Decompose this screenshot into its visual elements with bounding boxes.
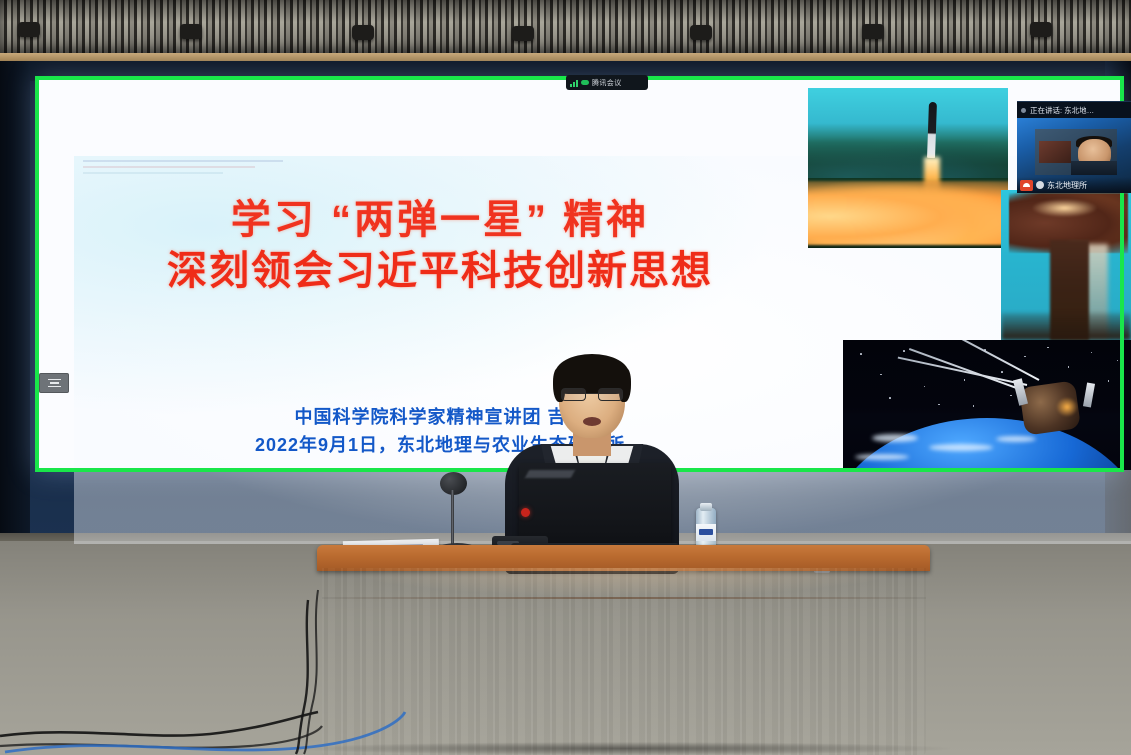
cloud-band	[872, 434, 918, 442]
slide-subtitle-line1: 中国科学院科学家精神宣讲团 吉林	[60, 404, 820, 432]
satellite-antenna	[898, 357, 1028, 386]
earth-limb	[843, 418, 1131, 470]
ceiling-spotlight	[862, 24, 884, 39]
meeting-app-label: 腾讯会议	[592, 78, 622, 88]
slide-subtitle-block: 中国科学院科学家精神宣讲团 吉林 2022年9月1日，东北地理与农业生态研究所	[60, 404, 820, 460]
ceiling-spotlight	[690, 25, 712, 40]
slide-subtitle-line2: 2022年9月1日，东北地理与农业生态研究所	[60, 432, 820, 460]
speaking-banner-label: 正在讲话: 东北地…	[1030, 105, 1094, 116]
satellite-sunlight-glint	[1056, 397, 1078, 417]
mushroom-cap-highlight	[1032, 199, 1097, 217]
black-cable	[296, 600, 308, 754]
black-cable	[0, 712, 318, 736]
laptop-screen-reflection	[525, 470, 575, 478]
nuclear-mushroom-cloud-photo	[1001, 190, 1131, 340]
slide-title-block: 学习 “两弹一星” 精神 深刻领会习近平科技创新思想	[60, 198, 820, 294]
eyeglasses-icon	[561, 388, 623, 401]
cloud-band	[929, 444, 993, 451]
participant-name-label: 东北地理所	[1047, 180, 1087, 191]
slide-title-line1: 学习 “两弹一星” 精神	[60, 198, 820, 243]
satellite-antenna	[954, 340, 1040, 381]
water-bottle-cap	[700, 503, 712, 511]
person-badge-icon	[1020, 180, 1033, 191]
mushroom-base-smoke	[1001, 313, 1131, 340]
ceiling-shading	[0, 0, 1131, 55]
ceiling-spotlight	[180, 24, 202, 39]
video-background-screen	[1039, 141, 1072, 163]
participant-name-bar: 东北地理所	[1017, 177, 1131, 193]
recording-dot-icon	[581, 80, 589, 85]
tencent-meeting-badge[interactable]: 腾讯会议	[566, 75, 648, 90]
ceiling-spotlight	[512, 26, 534, 41]
signal-bars-icon	[570, 79, 578, 87]
ceiling-spotlight	[18, 22, 40, 37]
video-inner-frame	[1035, 129, 1117, 176]
lecture-room-photo: 学习 “两弹一星” 精神 深刻领会习近平科技创新思想 中国科学院科学家精神宣讲团…	[0, 0, 1131, 755]
wall-left-edge	[0, 61, 30, 540]
slide-header-ghost-lines	[83, 160, 283, 178]
participant-tile[interactable]: 正在讲话: 东北地… 东北地理所	[1017, 101, 1131, 193]
floor-cables	[0, 540, 1131, 755]
list-menu-icon[interactable]	[39, 373, 69, 393]
black-cable	[0, 726, 322, 748]
speaking-banner: 正在讲话: 东北地…	[1017, 102, 1131, 118]
satellite-panel	[1083, 382, 1095, 407]
forest-hills	[808, 130, 1008, 178]
participant-suit	[1071, 161, 1117, 175]
presenter-mouth	[583, 417, 601, 426]
water-bottle-label	[696, 524, 716, 541]
satellite-in-orbit-photo	[843, 340, 1131, 470]
exhaust-plume	[808, 181, 1008, 245]
microphone-icon	[1036, 181, 1044, 189]
missile-launch-photo	[808, 88, 1008, 248]
microphone-status-light	[521, 508, 530, 517]
slide-title-line2: 深刻领会习近平科技创新思想	[60, 249, 820, 294]
ceiling-spotlight	[352, 25, 374, 40]
speaker-indicator-icon	[1021, 108, 1026, 113]
ceiling-spotlight	[1030, 22, 1052, 37]
